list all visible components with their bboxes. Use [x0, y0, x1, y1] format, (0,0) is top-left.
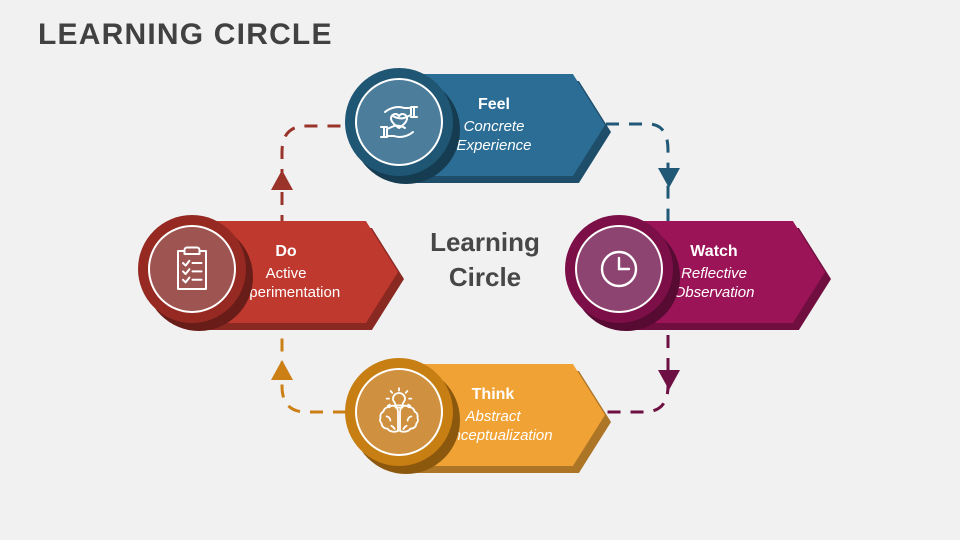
feel-subtitle-line2: Experience [456, 137, 531, 156]
brain-bulb-icon [371, 385, 427, 439]
watch-subtitle-line1: Reflective [681, 265, 747, 284]
node-think[interactable]: Think Abstract Conceptualization [345, 358, 605, 472]
center-label-line2: Circle [400, 260, 570, 295]
center-label: Learning Circle [400, 225, 570, 294]
hands-heart-icon [371, 96, 427, 148]
think-circle-inner [355, 368, 444, 457]
watch-icon-circle[interactable] [565, 215, 673, 323]
node-feel[interactable]: Feel Concrete Experience [345, 68, 605, 182]
connector-do-to-feel [271, 126, 346, 228]
slide-canvas: LEARNING CIRCLE Feel Conc [0, 0, 960, 540]
clipboard-checklist-icon [166, 241, 218, 297]
node-do[interactable]: Do Active Experimentation [138, 215, 398, 329]
connector-think-to-do [271, 318, 346, 412]
node-watch[interactable]: Watch Reflective Observation [565, 215, 825, 329]
think-title: Think [472, 385, 515, 405]
feel-subtitle-line1: Concrete [464, 118, 525, 137]
think-icon-circle[interactable] [345, 358, 453, 466]
feel-icon-circle[interactable] [345, 68, 453, 176]
clock-icon [591, 241, 647, 297]
do-subtitle-line1: Active [266, 265, 307, 284]
feel-title: Feel [478, 95, 510, 115]
think-subtitle-line1: Abstract [465, 408, 520, 427]
do-title: Do [275, 242, 296, 262]
center-label-line1: Learning [400, 225, 570, 260]
do-icon-circle[interactable] [138, 215, 246, 323]
do-circle-inner [148, 225, 237, 314]
watch-title: Watch [690, 242, 737, 262]
watch-subtitle-line2: Observation [674, 284, 755, 303]
feel-circle-inner [355, 78, 444, 167]
watch-circle-inner [575, 225, 664, 314]
